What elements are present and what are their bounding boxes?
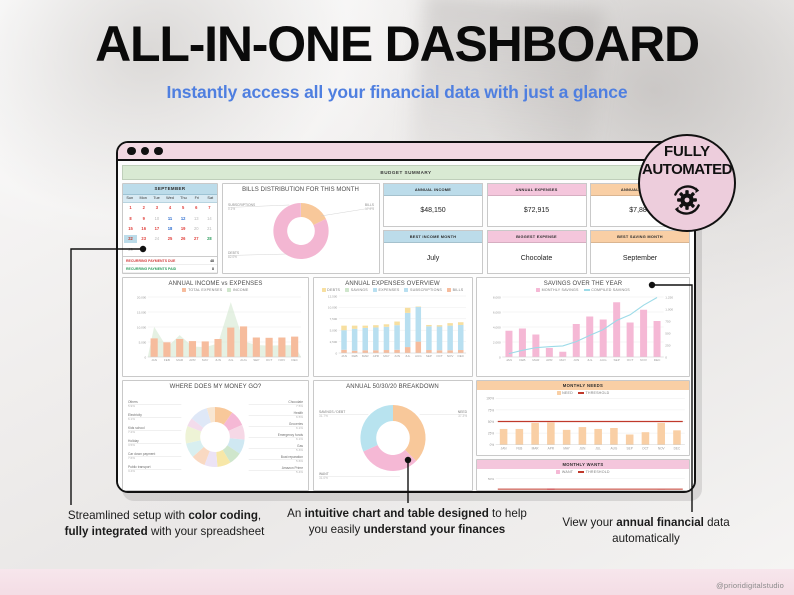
browser-window: BUDGET SUMMARY SEPTEMBER Sun Mon Tue Wed… [116, 141, 696, 493]
svg-text:0%: 0% [490, 443, 495, 447]
svg-text:8,000: 8,000 [493, 295, 501, 299]
calendar-day[interactable]: 2 [137, 204, 150, 211]
legend-swatch-icon [227, 288, 231, 292]
svg-text:5,000: 5,000 [139, 340, 147, 344]
svg-text:500: 500 [665, 331, 670, 335]
legend-item: BILLS [447, 288, 463, 292]
kpi-annual-income[interactable]: ANNUAL INCOME $48,150 [383, 183, 483, 227]
calendar-day[interactable]: 12 [177, 215, 190, 222]
calendar-day[interactable]: 7 [203, 204, 216, 211]
svg-text:APR: APR [548, 446, 555, 450]
legend-label: THRESHOLD [586, 391, 610, 395]
calendar-day[interactable]: 25 [163, 235, 176, 242]
svg-text:FEB: FEB [164, 358, 170, 362]
legend-label: SAVINGS [351, 288, 368, 292]
svg-text:5,000: 5,000 [329, 328, 337, 332]
calendar-day [150, 246, 163, 253]
svg-text:0: 0 [335, 351, 337, 355]
budget-summary-banner: BUDGET SUMMARY [122, 165, 690, 180]
dashboard-canvas: BUDGET SUMMARY SEPTEMBER Sun Mon Tue Wed… [118, 161, 694, 491]
income-vs-expenses-legend: TOTAL EXPENSES INCOME [126, 288, 305, 292]
legend-label: BILLS [453, 288, 464, 292]
monthly-wants-chart: 50% [477, 475, 689, 491]
kpi-best-saving-month[interactable]: BEST SAVING MONTH September [590, 230, 690, 274]
legend-swatch-icon [556, 470, 560, 474]
svg-text:MAR: MAR [532, 446, 540, 450]
calendar-dow: Thu [177, 196, 190, 200]
window-minimize-icon[interactable] [141, 147, 150, 156]
svg-text:NOV: NOV [279, 358, 287, 362]
svg-text:JUL: JUL [587, 358, 593, 362]
legend-swatch-icon [447, 288, 451, 292]
svg-text:NOV: NOV [446, 354, 454, 358]
legend-item: MONTHLY SAVINGS [536, 288, 579, 292]
calendar-day[interactable]: 3 [150, 204, 163, 211]
annual-503020-breakdown-title: ANNUAL 50/30/20 BREAKDOWN [317, 384, 469, 390]
calendar-day[interactable]: 26 [177, 235, 190, 242]
svg-text:JAN: JAN [501, 446, 507, 450]
svg-text:OCT: OCT [627, 358, 634, 362]
monthly-wants-title: MONTHLY WANTS [477, 460, 689, 469]
svg-text:AUG: AUG [600, 358, 607, 362]
svg-text:50%: 50% [488, 477, 494, 481]
svg-text:25%: 25% [488, 432, 494, 436]
calendar-dow: Tue [150, 196, 163, 200]
svg-text:SEP: SEP [253, 358, 259, 362]
calendar-day[interactable]: 18 [163, 225, 176, 232]
calendar-day[interactable]: 9 [137, 215, 150, 222]
gear-refresh-icon [669, 182, 705, 223]
fully-automated-badge: FULLY AUTOMATED [638, 134, 736, 232]
svg-text:DEC: DEC [457, 354, 464, 358]
badge-line-1: FULLY [664, 143, 710, 160]
legend-item: NEED [557, 391, 573, 395]
annotation-left: Streamlined setup with color coding, ful… [62, 508, 267, 540]
recurring-payments-due-row: RECURRING PAYMENTS DUE 48 [123, 257, 217, 265]
legend-label: INCOME [233, 288, 249, 292]
monthly-wants-legend: WANT THRESHOLD [477, 470, 689, 474]
calendar-day[interactable]: 6 [190, 204, 203, 211]
annual-expenses-overview-title: ANNUAL EXPENSES OVERVIEW [317, 281, 469, 287]
savings-over-the-year-card: SAVINGS OVER THE YEAR MONTHLY SAVINGS CO… [476, 277, 690, 377]
svg-text:AUG: AUG [240, 358, 247, 362]
calendar-grid[interactable]: 1234567891011121314151617181920212223242… [123, 203, 217, 256]
legend-item: THRESHOLD [578, 470, 610, 474]
svg-text:JUN: JUN [579, 446, 586, 450]
kpi-label: BIGGEST EXPENSE [488, 231, 586, 243]
calendar-dow: Wed [163, 196, 176, 200]
legend-swatch-icon [373, 288, 377, 292]
calendar-day [203, 246, 216, 253]
svg-text:JUN: JUN [394, 354, 400, 358]
legend-item: EXPENSES [373, 288, 400, 292]
svg-text:AUG: AUG [414, 354, 421, 358]
legend-label: COMPILED SAVINGS [591, 288, 630, 292]
calendar-day[interactable]: 13 [190, 215, 203, 222]
svg-text:2,000: 2,000 [493, 340, 501, 344]
annotation-center: An intuitive chart and table designed to… [283, 506, 531, 538]
calendar-dow: Sun [123, 196, 136, 200]
svg-text:FEB: FEB [351, 354, 357, 358]
page-title: ALL-IN-ONE DASHBOARD [0, 18, 794, 70]
annual-expenses-overview-chart: 02,5005,0007,50010,00012,500JANFEBMARAPR… [317, 293, 469, 363]
legend-label: DEBTS [327, 288, 340, 292]
svg-text:DEC: DEC [674, 446, 681, 450]
kpi-label: ANNUAL EXPENSES [488, 184, 586, 196]
legend-label: EXPENSES [378, 288, 399, 292]
window-maximize-icon[interactable] [154, 147, 163, 156]
svg-text:0: 0 [499, 355, 501, 359]
monthly-need-want-column: MONTHLY NEEDS NEED THRESHOLD 0%25%50%75%… [476, 380, 690, 491]
svg-text:1,000: 1,000 [665, 307, 673, 311]
kpi-annual-expenses[interactable]: ANNUAL EXPENSES $72,915 [487, 183, 587, 227]
calendar-day[interactable]: 29 [124, 246, 137, 253]
legend-label: SUBSCRIPTIONS [410, 288, 442, 292]
svg-text:7,500: 7,500 [329, 317, 337, 321]
svg-text:JAN: JAN [341, 354, 347, 358]
legend-item: SUBSCRIPTIONS [404, 288, 442, 292]
dashboard-row-3: WHERE DOES MY MONEY GO? Others5.9%Electr… [122, 380, 690, 491]
legend-swatch-icon [345, 288, 349, 292]
badge-line-2: AUTOMATED [642, 161, 732, 178]
calendar-day[interactable]: 11 [163, 215, 176, 222]
recurring-payments-due-label: RECURRING PAYMENTS DUE [126, 259, 175, 263]
calendar-dow: Fri [190, 196, 203, 200]
monthly-needs-card: MONTHLY NEEDS NEED THRESHOLD 0%25%50%75%… [476, 380, 690, 456]
svg-text:20,000: 20,000 [137, 295, 147, 299]
svg-text:OCT: OCT [436, 354, 443, 358]
svg-text:MAY: MAY [202, 358, 208, 362]
calendar-day[interactable]: 17 [150, 225, 163, 232]
calendar-footer: RECURRING PAYMENTS DUE 48 RECURRING PAYM… [123, 256, 217, 273]
svg-text:1,250: 1,250 [665, 295, 673, 299]
legend-swatch-icon [536, 288, 540, 292]
calendar-day [190, 246, 203, 253]
svg-text:JUN: JUN [573, 358, 579, 362]
income-vs-expenses-title: ANNUAL INCOME vs EXPENSES [126, 281, 305, 287]
legend-swatch-icon [557, 391, 561, 395]
svg-text:MAY: MAY [560, 358, 567, 362]
svg-text:JUL: JUL [595, 446, 601, 450]
svg-text:SEP: SEP [425, 354, 431, 358]
legend-item: COMPILED SAVINGS [584, 288, 630, 292]
calendar-day[interactable]: 21 [203, 225, 216, 232]
monthly-wants-card: MONTHLY WANTS WANT THRESHOLD 50% [476, 459, 690, 491]
svg-text:SEP: SEP [614, 358, 620, 362]
kpi-best-income-month[interactable]: BEST INCOME MONTH July [383, 230, 483, 274]
calendar-day[interactable]: 19 [177, 225, 190, 232]
kpi-label: ANNUAL INCOME [384, 184, 482, 196]
calendar-day[interactable]: 24 [150, 235, 163, 242]
svg-text:AUG: AUG [611, 446, 618, 450]
kpi-value: $48,150 [384, 196, 482, 226]
savings-over-the-year-chart: 02,0004,0006,0008,000JANFEBMARAPRMAYJUNJ… [480, 293, 686, 367]
footer-band [0, 569, 794, 595]
legend-swatch-icon [322, 288, 326, 292]
svg-text:NOV: NOV [640, 358, 648, 362]
calendar-day[interactable]: 1 [124, 204, 137, 211]
kpi-label: BEST INCOME MONTH [384, 231, 482, 243]
legend-item: WANT [556, 470, 573, 474]
annual-503020-breakdown-chart: NEED37.3%SAVINGS / DEBT31.7%WANT31.0% [317, 391, 469, 485]
svg-text:JUL: JUL [228, 358, 234, 362]
kpi-value: July [384, 243, 482, 273]
where-does-my-money-go-chart: Others5.9%Electricity6.1%Kids school7.2%… [126, 391, 305, 483]
kpi-value: Chocolate [488, 243, 586, 273]
calendar-day[interactable]: 27 [190, 235, 203, 242]
savings-over-the-year-legend: MONTHLY SAVINGS COMPILED SAVINGS [480, 288, 686, 292]
bills-distribution-chart: SUBSCRIPTIONS0.1%BILLS17.9%DEBTS82.0% [226, 194, 376, 266]
calendar-dow: Sat [204, 196, 217, 200]
svg-text:NOV: NOV [658, 446, 666, 450]
kpi-biggest-expense[interactable]: BIGGEST EXPENSE Chocolate [487, 230, 587, 274]
svg-text:JAN: JAN [151, 358, 157, 362]
bills-distribution-card: BILLS DISTRIBUTION FOR THIS MONTH SUBSCR… [222, 183, 380, 274]
svg-text:4,000: 4,000 [493, 325, 501, 329]
calendar-day[interactable]: 10 [150, 215, 163, 222]
bills-distribution-title: BILLS DISTRIBUTION FOR THIS MONTH [226, 187, 376, 193]
svg-text:0: 0 [665, 355, 667, 359]
legend-swatch-icon [182, 288, 186, 292]
svg-text:2,500: 2,500 [329, 340, 337, 344]
kpi-value: September [591, 243, 689, 273]
svg-text:JUL: JUL [404, 354, 410, 358]
svg-text:APR: APR [189, 358, 196, 362]
svg-text:JAN: JAN [506, 358, 512, 362]
svg-text:12,500: 12,500 [327, 294, 337, 298]
legend-line-icon [578, 392, 584, 393]
svg-text:FEB: FEB [519, 358, 525, 362]
calendar-day[interactable]: 16 [137, 225, 150, 232]
legend-label: TOTAL EXPENSES [188, 288, 222, 292]
svg-text:MAR: MAR [361, 354, 369, 358]
legend-item: THRESHOLD [578, 391, 610, 395]
calendar-day[interactable]: 4 [163, 204, 176, 211]
svg-text:75%: 75% [488, 408, 494, 412]
calendar-day[interactable]: 8 [124, 215, 137, 222]
calendar-day [177, 246, 190, 253]
legend-item: DEBTS [322, 288, 341, 292]
legend-line-icon [584, 289, 590, 290]
legend-label: NEED [562, 391, 573, 395]
where-does-my-money-go-title: WHERE DOES MY MONEY GO? [126, 384, 305, 390]
dashboard-row-2: ANNUAL INCOME vs EXPENSES TOTAL EXPENSES… [122, 277, 690, 377]
kpi-value: $72,915 [488, 196, 586, 226]
svg-text:6,000: 6,000 [493, 310, 501, 314]
svg-text:APR: APR [546, 358, 553, 362]
calendar-dow: Mon [136, 196, 149, 200]
svg-text:MAR: MAR [176, 358, 184, 362]
svg-text:DEC: DEC [654, 358, 661, 362]
calendar-day[interactable]: 23 [137, 235, 150, 242]
legend-label: MONTHLY SAVINGS [542, 288, 579, 292]
calendar-day[interactable]: 28 [203, 235, 216, 242]
where-does-my-money-go-card: WHERE DOES MY MONEY GO? Others5.9%Electr… [122, 380, 309, 491]
calendar-day[interactable]: 5 [177, 204, 190, 211]
legend-swatch-icon [404, 288, 408, 292]
annual-503020-breakdown-card: ANNUAL 50/30/20 BREAKDOWN NEED37.3%SAVIN… [313, 380, 473, 491]
legend-item: INCOME [227, 288, 248, 292]
income-vs-expenses-card: ANNUAL INCOME vs EXPENSES TOTAL EXPENSES… [122, 277, 309, 377]
svg-text:OCT: OCT [266, 358, 273, 362]
recurring-payments-paid-label: RECURRING PAYMENTS PAID [126, 267, 176, 271]
calendar-month-label: SEPTEMBER [123, 184, 217, 195]
svg-text:JUN: JUN [215, 358, 221, 362]
svg-text:SEP: SEP [627, 446, 633, 450]
watermark: @prioridigitalstudio [716, 581, 784, 590]
annual-expenses-overview-legend: DEBTS SAVINGS EXPENSES SUBSCRIPTIONS [317, 288, 469, 292]
page-subtitle: Instantly access all your financial data… [0, 82, 794, 103]
svg-text:15,000: 15,000 [137, 310, 147, 314]
legend-item: SAVINGS [345, 288, 368, 292]
savings-over-the-year-title: SAVINGS OVER THE YEAR [480, 281, 686, 287]
recurring-payments-due-value: 48 [210, 259, 214, 263]
svg-text:MAR: MAR [532, 358, 540, 362]
legend-label: THRESHOLD [586, 470, 610, 474]
browser-titlebar [118, 143, 694, 161]
legend-label: WANT [562, 470, 573, 474]
dashboard-row-1: SEPTEMBER Sun Mon Tue Wed Thu Fri Sat 12… [122, 183, 690, 274]
svg-text:10,000: 10,000 [137, 325, 147, 329]
calendar-day[interactable]: 22 [124, 235, 137, 242]
svg-text:750: 750 [665, 319, 670, 323]
svg-text:250: 250 [665, 343, 670, 347]
calendar-weekday-header: Sun Mon Tue Wed Thu Fri Sat [123, 195, 217, 203]
calendar-day[interactable]: 20 [190, 225, 203, 232]
annual-expenses-overview-card: ANNUAL EXPENSES OVERVIEW DEBTS SAVINGS E… [313, 277, 473, 377]
kpi-row-bottom: BEST INCOME MONTH July BIGGEST EXPENSE C… [383, 230, 690, 274]
svg-text:FEB: FEB [516, 446, 522, 450]
recurring-payments-paid-value: 8 [212, 267, 214, 271]
calendar-card: SEPTEMBER Sun Mon Tue Wed Thu Fri Sat 12… [122, 183, 218, 274]
svg-text:MAY: MAY [563, 446, 570, 450]
svg-text:APR: APR [372, 354, 379, 358]
svg-text:OCT: OCT [642, 446, 649, 450]
svg-text:100%: 100% [486, 397, 494, 401]
svg-text:50%: 50% [488, 420, 494, 424]
recurring-payments-paid-row: RECURRING PAYMENTS PAID 8 [123, 265, 217, 273]
income-vs-expenses-chart: 05,00010,00015,00020,000JANFEBMARAPRMAYJ… [126, 293, 305, 367]
svg-text:MAY: MAY [383, 354, 389, 358]
calendar-day[interactable]: 30 [137, 246, 150, 253]
svg-text:10,000: 10,000 [327, 306, 337, 310]
calendar-day[interactable]: 15 [124, 225, 137, 232]
calendar-day[interactable]: 14 [203, 215, 216, 222]
legend-line-icon [578, 471, 584, 472]
monthly-needs-chart: 0%25%50%75%100%JANFEBMARAPRMAYJUNJULAUGS… [477, 396, 689, 455]
monthly-needs-title: MONTHLY NEEDS [477, 381, 689, 390]
annotation-right: View your annual financial data automati… [548, 515, 744, 547]
hero-section: ALL-IN-ONE DASHBOARD Instantly access al… [0, 18, 794, 103]
monthly-needs-legend: NEED THRESHOLD [477, 391, 689, 395]
legend-item: TOTAL EXPENSES [182, 288, 222, 292]
calendar-day [163, 246, 176, 253]
svg-text:0: 0 [145, 355, 147, 359]
window-close-icon[interactable] [127, 147, 136, 156]
kpi-label: BEST SAVING MONTH [591, 231, 689, 243]
svg-text:DEC: DEC [291, 358, 298, 362]
